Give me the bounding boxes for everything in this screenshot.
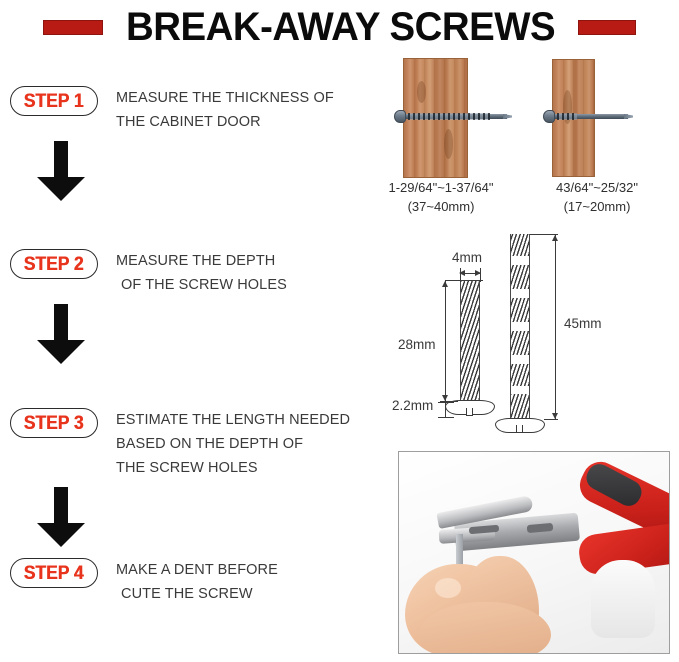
dim-arrowhead <box>475 270 481 276</box>
background-prop <box>591 560 655 638</box>
step-text-line: THE CABINET DOOR <box>116 110 334 134</box>
step-text-line: MEASURE THE DEPTH <box>116 249 287 273</box>
dim-arrowhead <box>459 270 465 276</box>
wood-grain-mark <box>417 81 426 103</box>
step-badge-label-3: STEP 3 <box>24 414 84 433</box>
screw-thread-segment <box>510 364 530 386</box>
step-text-line: CUTE THE SCREW <box>116 582 278 606</box>
step-text-1: MEASURE THE THICKNESS OF THE CABINET DOO… <box>116 85 334 134</box>
dimension-label-head-height: 2.2mm <box>392 398 433 413</box>
screw-breakaway-groove <box>510 386 530 394</box>
screw-threaded-body <box>460 280 480 402</box>
screw-break-notches <box>408 113 490 120</box>
dim-arrowhead <box>552 413 558 419</box>
screw-thread-segment <box>510 265 530 289</box>
page-title: BREAK-AWAY SCREWS <box>126 7 555 47</box>
wood-blocks-group <box>372 58 679 178</box>
dim-arrowhead <box>442 395 448 401</box>
step-text-line: THE SCREW HOLES <box>116 456 350 480</box>
step-badge-4: STEP 4 <box>10 558 98 588</box>
step-block-1: STEP 1 MEASURE THE THICKNESS OF THE CABI… <box>0 85 380 134</box>
step-badge-2: STEP 2 <box>10 249 98 279</box>
step-badge-label-1: STEP 1 <box>24 92 84 111</box>
step-text-line: BASED ON THE DEPTH OF <box>116 432 350 456</box>
steps-column: STEP 1 MEASURE THE THICKNESS OF THE CABI… <box>0 55 380 662</box>
down-arrow-icon-1 <box>33 141 89 203</box>
dimension-label-width: 4mm <box>452 250 482 265</box>
page-title-row: BREAK-AWAY SCREWS <box>0 4 679 50</box>
screw-break-notches <box>557 113 577 120</box>
dim-extension <box>438 402 454 403</box>
wood-caption-thin: 43/64"~25/32" (17~20mm) <box>522 178 672 216</box>
dim-extension <box>544 419 558 420</box>
screw-tip <box>503 114 512 119</box>
dim-arrowhead <box>442 281 448 287</box>
title-dash-left-icon <box>43 20 103 35</box>
step-badge-label-4: STEP 4 <box>24 564 84 583</box>
caption-metric: (17~20mm) <box>522 197 672 216</box>
screw-breakaway-groove <box>510 289 530 298</box>
title-dash-right-icon <box>578 20 636 35</box>
step-block-3: STEP 3 ESTIMATE THE LENGTH NEEDED BASED … <box>0 407 380 480</box>
screw-head-slot <box>516 425 523 433</box>
cabinet-door-thickness-figure: 1-29/64"~1-37/64" (37~40mm) 43/64"~25/32… <box>372 58 679 218</box>
step-block-4: STEP 4 MAKE A DENT BEFORE CUTE THE SCREW <box>0 557 380 606</box>
step-text-line: MEASURE THE THICKNESS OF <box>116 86 334 110</box>
dim-line <box>555 235 556 420</box>
step-text-4: MAKE A DENT BEFORE CUTE THE SCREW <box>116 557 278 606</box>
down-arrow-icon-3 <box>33 487 89 549</box>
screw-thread-segment <box>510 298 530 322</box>
dimension-label-long-length: 45mm <box>564 316 602 331</box>
caption-imperial: 1-29/64"~1-37/64" <box>366 178 516 197</box>
screw-head-slot <box>466 408 473 416</box>
screw-breakaway-groove <box>510 256 530 265</box>
screw-head <box>394 110 406 123</box>
dim-line <box>445 402 446 418</box>
step-badge-label-2: STEP 2 <box>24 255 84 274</box>
hand-highlight <box>435 578 461 598</box>
screw-through-thick-door <box>394 110 512 123</box>
dim-line <box>445 281 446 401</box>
step-text-3: ESTIMATE THE LENGTH NEEDED BASED ON THE … <box>116 407 350 480</box>
wood-grain-mark <box>444 129 453 159</box>
caption-metric: (37~40mm) <box>366 197 516 216</box>
dimension-label-short-length: 28mm <box>398 337 436 352</box>
screw-head <box>543 110 555 123</box>
screw-through-thin-door <box>543 110 633 123</box>
dim-extension <box>438 417 454 418</box>
screw-breakaway-groove <box>510 322 530 331</box>
step-badge-1: STEP 1 <box>10 86 98 116</box>
screw-tip <box>624 114 633 119</box>
step-text-line: ESTIMATE THE LENGTH NEEDED <box>116 408 350 432</box>
wood-caption-thick: 1-29/64"~1-37/64" (37~40mm) <box>366 178 516 216</box>
screw-thread-segment <box>510 234 530 256</box>
step-badge-3: STEP 3 <box>10 408 98 438</box>
caption-imperial: 43/64"~25/32" <box>522 178 672 197</box>
pliers-dent-photo <box>398 451 670 654</box>
screw-thread-segment <box>510 331 530 355</box>
step-text-2: MEASURE THE DEPTH OF THE SCREW HOLES <box>116 248 287 297</box>
down-arrow-icon-2 <box>33 304 89 366</box>
step-text-line: OF THE SCREW HOLES <box>116 273 287 297</box>
screw-breakaway-groove <box>510 355 530 364</box>
dim-arrowhead <box>552 235 558 241</box>
step-block-2: STEP 2 MEASURE THE DEPTH OF THE SCREW HO… <box>0 248 380 297</box>
dim-extension <box>445 280 483 281</box>
step-text-line: MAKE A DENT BEFORE <box>116 558 278 582</box>
screw-dimension-figure: 4mm 28mm 2.2mm <box>392 232 679 428</box>
infographic-page: BREAK-AWAY SCREWS STEP 1 MEASURE THE THI… <box>0 0 679 662</box>
